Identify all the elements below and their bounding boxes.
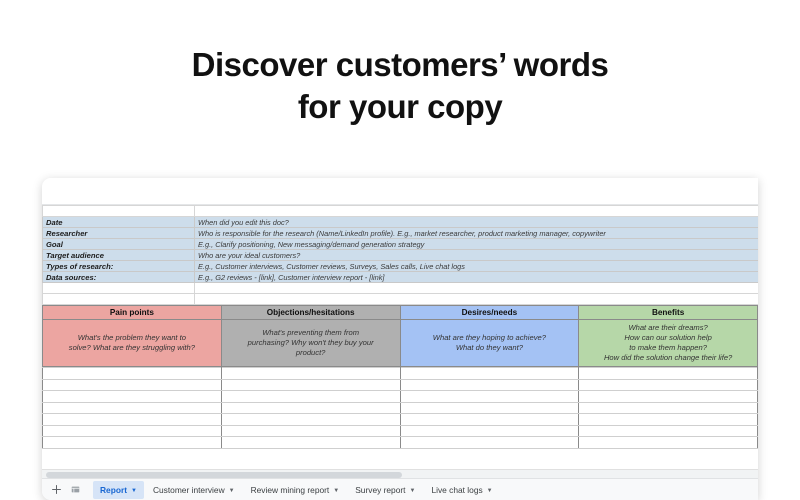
info-row-value[interactable]: E.g., G2 reviews - [link], Customer inte… — [195, 272, 759, 283]
table-row — [43, 402, 758, 414]
info-table: Date When did you edit this doc? Researc… — [42, 205, 758, 305]
grid-cell[interactable] — [221, 414, 400, 426]
grid-cell[interactable] — [221, 391, 400, 403]
grid-cell[interactable] — [43, 402, 222, 414]
grid-cell[interactable] — [400, 425, 579, 437]
spreadsheet-toolbar-strip — [42, 178, 758, 205]
info-row-label[interactable]: Target audience — [43, 250, 195, 261]
matrix-header-objections[interactable]: Objections/hesitations — [221, 306, 400, 320]
prompt-line: solve? What are they struggling with? — [47, 343, 217, 353]
prompt-line: What do they want? — [405, 343, 575, 353]
info-row-label[interactable]: Data sources: — [43, 272, 195, 283]
matrix-prompt-benefits[interactable]: What are their dreams? How can our solut… — [579, 320, 758, 367]
matrix-header-desires[interactable]: Desires/needs — [400, 306, 579, 320]
grid-cell[interactable] — [221, 368, 400, 380]
sheet-tab-label: Review mining report — [251, 485, 330, 495]
grid-cell[interactable] — [579, 414, 758, 426]
sheet-tab-label: Survey report — [355, 485, 405, 495]
grid-cell[interactable] — [221, 402, 400, 414]
table-row — [43, 368, 758, 380]
grid-cell[interactable] — [400, 414, 579, 426]
grid-cell[interactable] — [43, 206, 195, 217]
matrix-prompt-objections[interactable]: What's preventing them from purchasing? … — [221, 320, 400, 367]
grid-cell[interactable] — [579, 368, 758, 380]
grid-cell[interactable] — [43, 414, 222, 426]
info-row-value[interactable]: Who are your ideal customers? — [195, 250, 759, 261]
prompt-line: What's preventing them from — [226, 328, 396, 338]
grid-cell[interactable] — [43, 391, 222, 403]
info-row-label[interactable]: Researcher — [43, 228, 195, 239]
table-row[interactable]: Researcher Who is responsible for the re… — [43, 228, 759, 239]
grid-cell[interactable] — [400, 391, 579, 403]
matrix-header-pain-points[interactable]: Pain points — [43, 306, 222, 320]
table-row — [43, 379, 758, 391]
research-matrix-table: Pain points Objections/hesitations Desir… — [42, 305, 758, 367]
table-row — [43, 437, 758, 449]
sheet-tab-live-chat-logs[interactable]: Live chat logs ▼ — [424, 481, 499, 499]
grid-cell[interactable] — [43, 379, 222, 391]
table-row[interactable]: Target audience Who are your ideal custo… — [43, 250, 759, 261]
page-title-line-1: Discover customers’ words — [0, 44, 800, 86]
grid-cell[interactable] — [221, 437, 400, 449]
matrix-empty-rows — [42, 367, 758, 449]
prompt-line: What are they hoping to achieve? — [405, 333, 575, 343]
grid-cell[interactable] — [579, 379, 758, 391]
grid-cell[interactable] — [400, 402, 579, 414]
grid-cell[interactable] — [400, 437, 579, 449]
info-row-value[interactable]: Who is responsible for the research (Nam… — [195, 228, 759, 239]
page-title-line-2: for your copy — [0, 86, 800, 128]
chevron-down-icon[interactable]: ▼ — [131, 488, 137, 494]
matrix-prompt-pain-points[interactable]: What's the problem they want to solve? W… — [43, 320, 222, 367]
table-row[interactable]: Data sources: E.g., G2 reviews - [link],… — [43, 272, 759, 283]
grid-spacer-row — [43, 206, 759, 217]
sheet-tab-customer-interview[interactable]: Customer interview ▼ — [146, 481, 242, 499]
info-row-value[interactable]: E.g., Customer interviews, Customer revi… — [195, 261, 759, 272]
grid-cell[interactable] — [43, 283, 195, 294]
chevron-down-icon[interactable]: ▼ — [410, 488, 416, 494]
grid-cell[interactable] — [43, 437, 222, 449]
sheet-tab-bar: Report ▼ Customer interview ▼ Review min… — [42, 478, 758, 500]
table-row[interactable]: Types of research: E.g., Customer interv… — [43, 261, 759, 272]
prompt-line: How can our solution help — [583, 333, 753, 343]
matrix-prompt-row: What's the problem they want to solve? W… — [43, 320, 758, 367]
grid-cell[interactable] — [579, 437, 758, 449]
grid-cell[interactable] — [195, 294, 759, 305]
grid-cell[interactable] — [195, 206, 759, 217]
table-row — [43, 391, 758, 403]
table-row — [43, 414, 758, 426]
table-row[interactable]: Goal E.g., Clarify positioning, New mess… — [43, 239, 759, 250]
prompt-line: purchasing? Why won't they buy your — [226, 338, 396, 348]
grid-cell[interactable] — [579, 425, 758, 437]
page-title: Discover customers’ words for your copy — [0, 44, 800, 128]
chevron-down-icon[interactable]: ▼ — [229, 488, 235, 494]
matrix-prompt-desires[interactable]: What are they hoping to achieve? What do… — [400, 320, 579, 367]
sheet-tab-label: Live chat logs — [431, 485, 482, 495]
sheet-tab-label: Report — [100, 485, 127, 495]
grid-cell[interactable] — [221, 425, 400, 437]
grid-cell[interactable] — [400, 379, 579, 391]
spreadsheet-grid[interactable]: Date When did you edit this doc? Researc… — [42, 205, 758, 478]
grid-cell[interactable] — [195, 283, 759, 294]
grid-cell[interactable] — [579, 402, 758, 414]
prompt-line: to make them happen? — [583, 343, 753, 353]
sheet-tab-review-mining-report[interactable]: Review mining report ▼ — [244, 481, 347, 499]
table-row — [43, 425, 758, 437]
sheet-tab-survey-report[interactable]: Survey report ▼ — [348, 481, 422, 499]
prompt-line: How did the solution change their life? — [583, 353, 753, 363]
info-row-value[interactable]: When did you edit this doc? — [195, 217, 759, 228]
info-row-label[interactable]: Goal — [43, 239, 195, 250]
chevron-down-icon[interactable]: ▼ — [333, 488, 339, 494]
sheet-tab-label: Customer interview — [153, 485, 225, 495]
grid-cell[interactable] — [400, 368, 579, 380]
all-sheets-icon[interactable] — [67, 481, 84, 498]
add-sheet-icon[interactable] — [48, 481, 65, 498]
grid-cell[interactable] — [43, 425, 222, 437]
grid-cell[interactable] — [43, 294, 195, 305]
prompt-line: product? — [226, 348, 396, 358]
grid-cell[interactable] — [43, 368, 222, 380]
prompt-line: What's the problem they want to — [47, 333, 217, 343]
info-row-label[interactable]: Types of research: — [43, 261, 195, 272]
horizontal-scrollbar-thumb[interactable] — [46, 472, 402, 478]
horizontal-scrollbar[interactable] — [42, 469, 758, 478]
grid-cell[interactable] — [221, 379, 400, 391]
prompt-line: What are their dreams? — [583, 323, 753, 333]
grid-cell[interactable] — [579, 391, 758, 403]
info-row-value[interactable]: E.g., Clarify positioning, New messaging… — [195, 239, 759, 250]
grid-spacer-row — [43, 294, 759, 305]
sheet-tab-report[interactable]: Report ▼ — [93, 481, 144, 499]
chevron-down-icon[interactable]: ▼ — [487, 488, 493, 494]
matrix-header-row: Pain points Objections/hesitations Desir… — [43, 306, 758, 320]
table-row[interactable]: Date When did you edit this doc? — [43, 217, 759, 228]
grid-spacer-row — [43, 283, 759, 294]
spreadsheet-card: Date When did you edit this doc? Researc… — [42, 178, 758, 500]
info-row-label[interactable]: Date — [43, 217, 195, 228]
matrix-header-benefits[interactable]: Benefits — [579, 306, 758, 320]
